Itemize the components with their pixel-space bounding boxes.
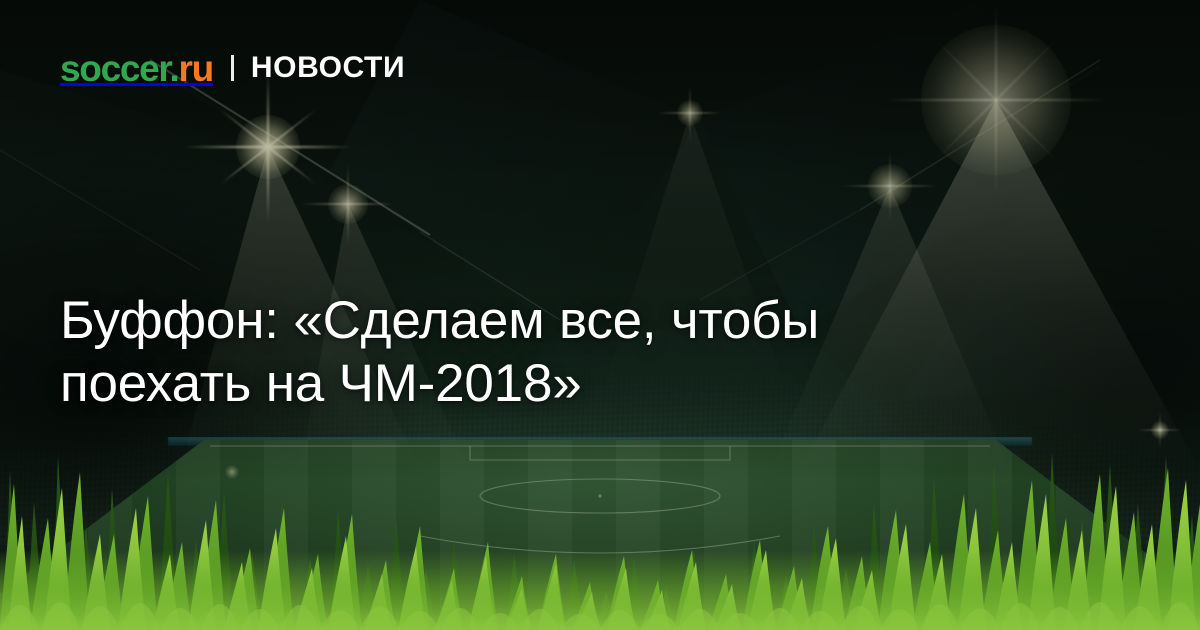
header-divider — [231, 55, 234, 81]
news-share-card: soccer.ru НОВОСТИ Буффон: «Сделаем все, … — [0, 0, 1200, 630]
soccer-ru-logo[interactable]: soccer.ru — [60, 50, 213, 87]
section-label-news: НОВОСТИ — [251, 53, 405, 83]
foreground-grass — [0, 430, 1200, 630]
logo-text-soccer: soccer — [60, 48, 169, 89]
brand-header: soccer.ru НОВОСТИ — [60, 47, 405, 89]
logo-text-ru: ru — [178, 48, 212, 89]
article-headline: Буффон: «Сделаем все, чтобы поехать на Ч… — [60, 289, 990, 415]
